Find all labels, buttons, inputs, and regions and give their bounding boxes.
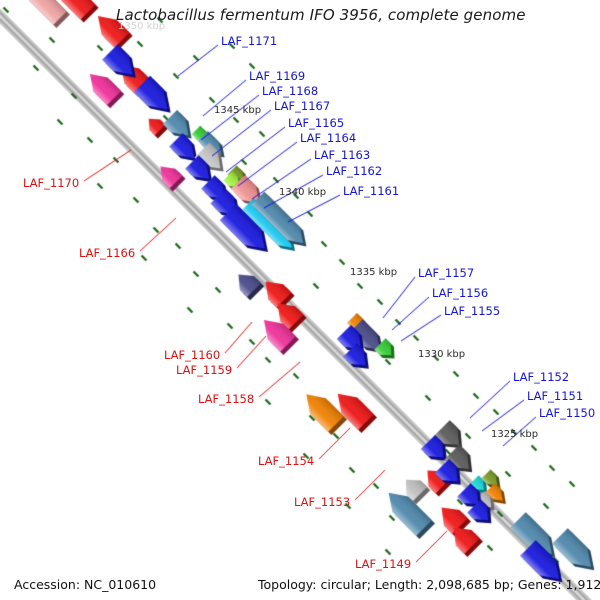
scale-marker: 1330 kbp xyxy=(418,350,465,360)
genome-stats-text: Topology: circular; Length: 2,098,685 bp… xyxy=(258,577,600,592)
gene-label-laf_1158[interactable]: LAF_1158 xyxy=(198,394,254,406)
gene-label-laf_1171[interactable]: LAF_1171 xyxy=(221,36,277,48)
gene-label-laf_1150[interactable]: LAF_1150 xyxy=(539,408,595,420)
gene-label-laf_1157[interactable]: LAF_1157 xyxy=(418,268,474,280)
gene-label-laf_1166[interactable]: LAF_1166 xyxy=(79,248,135,260)
gene-label-laf_1151[interactable]: LAF_1151 xyxy=(527,391,583,403)
gene-label-laf_1154[interactable]: LAF_1154 xyxy=(258,456,314,468)
gene-label-laf_1170[interactable]: LAF_1170 xyxy=(23,178,79,190)
scale-marker: 1345 kbp xyxy=(214,106,261,116)
gene-label-laf_1152[interactable]: LAF_1152 xyxy=(513,372,569,384)
gene-label-laf_1153[interactable]: LAF_1153 xyxy=(294,497,350,509)
genome-map-viewer[interactable]: Lactobacillus fermentum IFO 3956, comple… xyxy=(0,0,600,600)
gene-label-laf_1161[interactable]: LAF_1161 xyxy=(343,186,399,198)
scale-marker: 1340 kbp xyxy=(279,188,326,198)
gene-label-laf_1168[interactable]: LAF_1168 xyxy=(262,86,318,98)
scale-marker: 1325 kbp xyxy=(491,430,538,440)
scale-marker: 1350 kbp xyxy=(118,22,165,32)
gene-label-laf_1164[interactable]: LAF_1164 xyxy=(300,133,356,145)
gene-label-laf_1163[interactable]: LAF_1163 xyxy=(314,150,370,162)
gene-label-laf_1160[interactable]: LAF_1160 xyxy=(164,350,220,362)
page-title: Lactobacillus fermentum IFO 3956, comple… xyxy=(116,6,526,24)
gene-label-laf_1167[interactable]: LAF_1167 xyxy=(274,101,330,113)
gene-label-laf_1155[interactable]: LAF_1155 xyxy=(444,306,500,318)
gene-label-laf_1156[interactable]: LAF_1156 xyxy=(432,288,488,300)
gene-label-laf_1169[interactable]: LAF_1169 xyxy=(249,71,305,83)
accession-text: Accession: NC_010610 xyxy=(14,577,156,592)
gene-label-laf_1162[interactable]: LAF_1162 xyxy=(326,166,382,178)
gene-label-laf_1165[interactable]: LAF_1165 xyxy=(288,118,344,130)
scale-marker: 1335 kbp xyxy=(350,268,397,278)
gene-label-laf_1159[interactable]: LAF_1159 xyxy=(176,365,232,377)
gene-label-laf_1149[interactable]: LAF_1149 xyxy=(355,559,411,571)
